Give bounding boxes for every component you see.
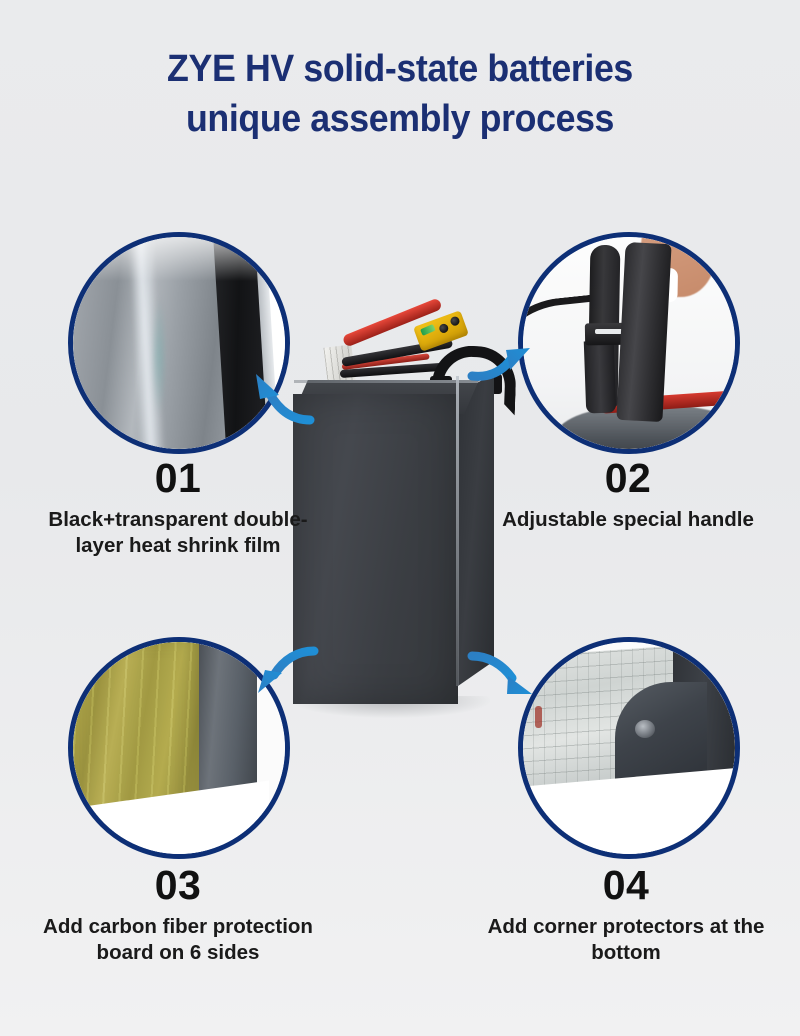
page-title: ZYE HV solid-state batteries unique asse…: [0, 44, 800, 144]
feature-text-03: Add carbon fiber protection board on 6 s…: [24, 914, 332, 966]
arrow-to-feature-03: [250, 645, 316, 701]
feature-text-01: Black+transparent double-layer heat shri…: [28, 507, 328, 559]
velcro-strap-tail: [616, 242, 671, 422]
feature-photo-circle-04: [518, 637, 740, 859]
feature-caption-02: 02 Adjustable special handle: [478, 455, 778, 533]
film-teal-tint: [151, 297, 167, 417]
feature-caption-04: 04 Add corner protectors at the bottom: [472, 862, 780, 966]
arrow-to-feature-02: [470, 326, 536, 382]
xt60-pin-hole-a: [438, 323, 450, 335]
arrow-to-feature-01: [246, 368, 312, 424]
xt60-pin-hole-b: [449, 315, 461, 327]
feature-text-02: Adjustable special handle: [478, 507, 778, 533]
battery-top-edge: [294, 380, 478, 383]
title-line-2: unique assembly process: [24, 94, 776, 144]
corner-protector-hole: [635, 720, 655, 738]
arrow-to-feature-04: [470, 650, 536, 706]
corner-protector-photo: [523, 642, 735, 854]
feature-number-04: 04: [472, 862, 780, 908]
adjustable-handle-photo: [523, 237, 735, 449]
feature-number-01: 01: [28, 455, 328, 501]
title-line-1: ZYE HV solid-state batteries: [24, 44, 776, 94]
velcro-strap-lower: [584, 340, 616, 413]
xt60-green-label: [420, 324, 436, 336]
feature-caption-01: 01 Black+transparent double-layer heat s…: [28, 455, 328, 559]
feature-number-02: 02: [478, 455, 778, 501]
feature-caption-03: 03 Add carbon fiber protection board on …: [24, 862, 332, 966]
feature-text-04: Add corner protectors at the bottom: [472, 914, 780, 966]
feature-number-03: 03: [24, 862, 332, 908]
battery-vertical-edge: [456, 376, 459, 686]
infographic-canvas: ZYE HV solid-state batteries unique asse…: [0, 0, 800, 1036]
film-top-curve: [73, 237, 285, 281]
feature-photo-circle-02: [518, 232, 740, 454]
red-marking: [535, 706, 542, 728]
